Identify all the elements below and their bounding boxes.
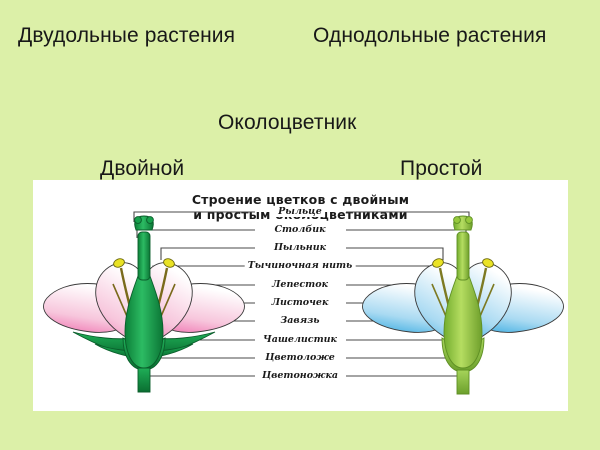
label-filament: Тычиночная нить xyxy=(245,261,356,271)
label-style: Столбик xyxy=(271,225,328,235)
label-sepal: Чашелистик xyxy=(260,335,340,345)
heading-dicot-plants: Двудольные растения xyxy=(18,24,235,48)
label-stigma: Рыльце xyxy=(275,207,325,217)
label-ovary: Завязь xyxy=(277,316,322,326)
label-pedicel: Цветоножка xyxy=(259,371,341,381)
heading-monocot-plants: Однодольные растения xyxy=(313,24,546,48)
heading-double-perianth: Двойной xyxy=(100,157,184,181)
label-petal: Лепесток xyxy=(269,280,331,290)
label-receptacle: Цветоложе xyxy=(262,353,338,363)
flower-simple-perianth xyxy=(363,216,564,394)
heading-simple-perianth: Простой xyxy=(400,157,482,181)
label-tepal: Листочек xyxy=(269,298,332,308)
heading-perianth: Околоцветник xyxy=(218,111,356,135)
figure-card: Строение цветков с двойным и простым око… xyxy=(33,180,568,411)
slide-canvas: Двудольные растения Однодольные растения… xyxy=(0,0,600,450)
flower-double-perianth xyxy=(44,216,245,392)
label-anther: Пыльник xyxy=(271,243,329,253)
